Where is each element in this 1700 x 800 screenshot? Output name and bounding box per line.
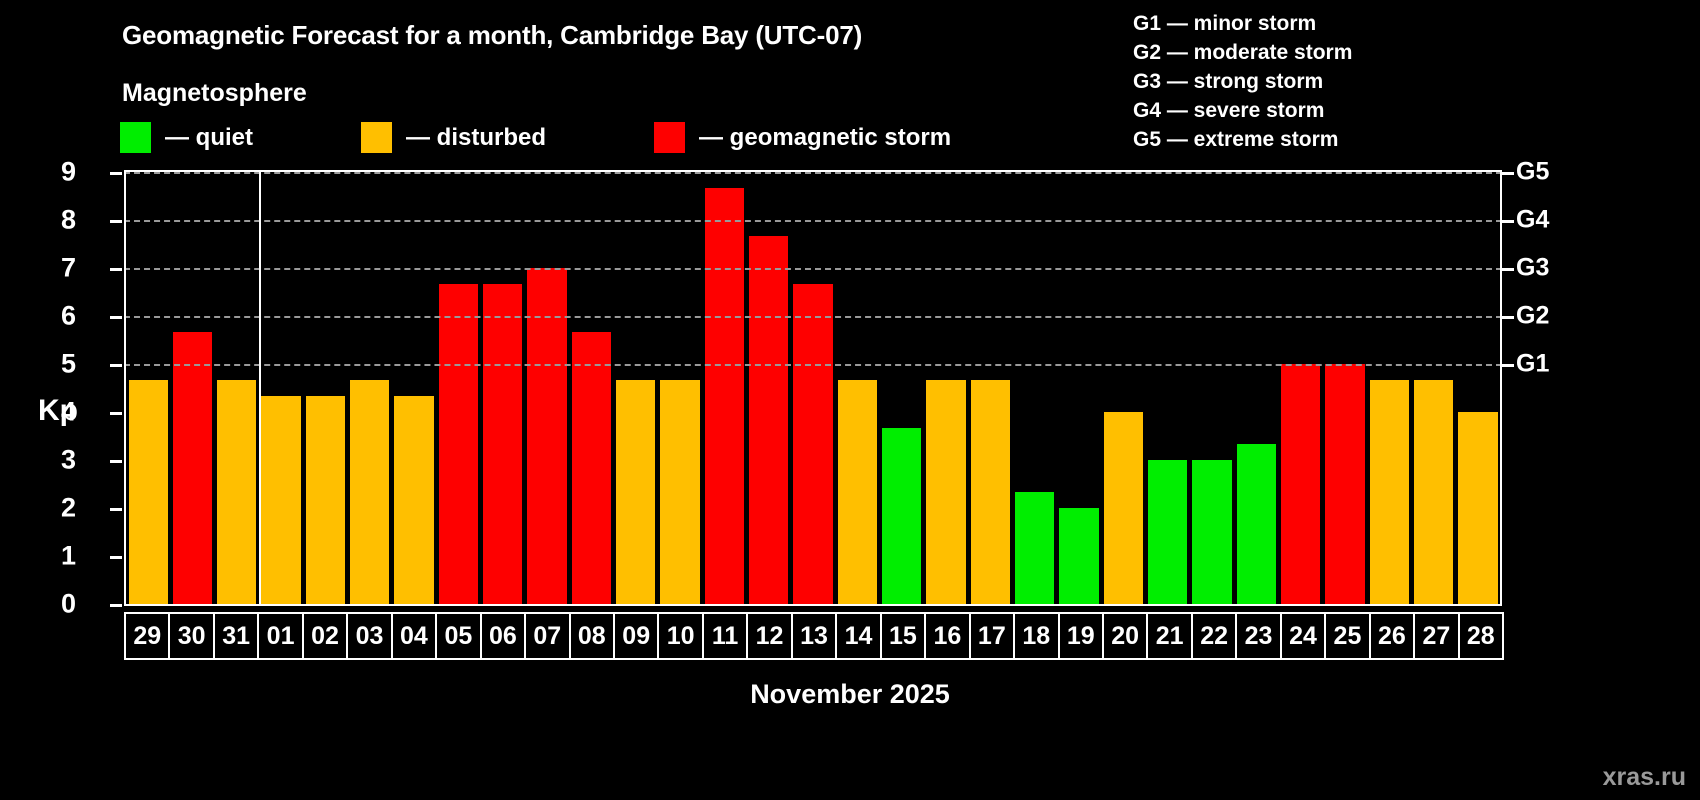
gscale-legend-row: G2 — moderate storm — [1133, 38, 1352, 67]
y-tick-mark — [110, 412, 122, 415]
green-swatch — [120, 122, 151, 153]
y-tick-mark — [110, 508, 122, 511]
y-tick-label: 1 — [36, 541, 76, 572]
gscale-legend-row: G4 — severe storm — [1133, 96, 1352, 125]
date-label[interactable]: 28 — [1458, 612, 1504, 660]
legend-entry: — geomagnetic storm — [654, 122, 951, 153]
date-label[interactable]: 05 — [435, 612, 481, 660]
date-label[interactable]: 29 — [124, 612, 170, 660]
date-label[interactable]: 17 — [969, 612, 1015, 660]
date-label[interactable]: 13 — [791, 612, 837, 660]
watermark: xras.ru — [1603, 763, 1686, 792]
date-label[interactable]: 01 — [257, 612, 303, 660]
month-separator — [259, 170, 261, 606]
y-tick-mark — [110, 364, 122, 367]
date-label[interactable]: 19 — [1058, 612, 1104, 660]
y-tick-mark — [110, 316, 122, 319]
date-label[interactable]: 16 — [924, 612, 970, 660]
date-label[interactable]: 14 — [835, 612, 881, 660]
gscale-legend-row: G3 — strong storm — [1133, 67, 1352, 96]
x-axis-date-labels: 2930310102030405060708091011121314151617… — [124, 612, 1502, 660]
y-tick-label: 3 — [36, 445, 76, 476]
red-swatch — [654, 122, 685, 153]
date-label[interactable]: 27 — [1413, 612, 1459, 660]
date-label[interactable]: 10 — [657, 612, 703, 660]
date-label[interactable]: 21 — [1146, 612, 1192, 660]
y-tick-label: 8 — [36, 205, 76, 236]
y-tick-mark — [110, 220, 122, 223]
y-tick-label: 9 — [36, 157, 76, 188]
date-label[interactable]: 22 — [1191, 612, 1237, 660]
y-tick-mark — [110, 556, 122, 559]
y-tick-mark — [110, 172, 122, 175]
date-label[interactable]: 06 — [480, 612, 526, 660]
date-label[interactable]: 08 — [569, 612, 615, 660]
orange-swatch — [361, 122, 392, 153]
magnetosphere-label: Magnetosphere — [122, 79, 307, 108]
g-tick-mark — [1502, 172, 1514, 175]
x-axis-label: November 2025 — [0, 679, 1700, 710]
date-label[interactable]: 07 — [524, 612, 570, 660]
g-tick-label: G2 — [1516, 302, 1549, 331]
date-label[interactable]: 12 — [746, 612, 792, 660]
y-tick-label: 5 — [36, 349, 76, 380]
gscale-legend-row: G5 — extreme storm — [1133, 125, 1352, 154]
date-label[interactable]: 20 — [1102, 612, 1148, 660]
date-label[interactable]: 11 — [702, 612, 748, 660]
date-label[interactable]: 30 — [168, 612, 214, 660]
date-label[interactable]: 15 — [880, 612, 926, 660]
gscale-legend-row: G1 — minor storm — [1133, 9, 1352, 38]
page-title: Geomagnetic Forecast for a month, Cambri… — [122, 20, 862, 51]
g-tick-mark — [1502, 220, 1514, 223]
date-label[interactable]: 23 — [1235, 612, 1281, 660]
date-label[interactable]: 04 — [391, 612, 437, 660]
y-tick-mark — [110, 604, 122, 607]
date-label[interactable]: 09 — [613, 612, 659, 660]
y-tick-label: 2 — [36, 493, 76, 524]
g-tick-label: G3 — [1516, 254, 1549, 283]
date-label[interactable]: 02 — [302, 612, 348, 660]
gscale-legend: G1 — minor stormG2 — moderate stormG3 — … — [1133, 9, 1352, 154]
g-tick-mark — [1502, 268, 1514, 271]
y-tick-label: 0 — [36, 589, 76, 620]
plot-frame — [124, 170, 1502, 606]
y-tick-label: 6 — [36, 301, 76, 332]
date-label[interactable]: 03 — [346, 612, 392, 660]
legend-label: — geomagnetic storm — [699, 124, 951, 152]
g-tick-mark — [1502, 364, 1514, 367]
date-label[interactable]: 25 — [1324, 612, 1370, 660]
g-tick-label: G4 — [1516, 206, 1549, 235]
date-label[interactable]: 31 — [213, 612, 259, 660]
y-tick-label: 7 — [36, 253, 76, 284]
g-tick-mark — [1502, 316, 1514, 319]
date-label[interactable]: 26 — [1369, 612, 1415, 660]
legend-label: — disturbed — [406, 124, 546, 152]
date-label[interactable]: 18 — [1013, 612, 1059, 660]
plot-area — [124, 170, 1502, 606]
y-tick-mark — [110, 460, 122, 463]
g-tick-label: G1 — [1516, 350, 1549, 379]
legend-label: — quiet — [165, 124, 253, 152]
g-tick-label: G5 — [1516, 158, 1549, 187]
y-tick-label: 4 — [36, 397, 76, 428]
y-tick-mark — [110, 268, 122, 271]
legend-entry: — quiet — [120, 122, 253, 153]
color-legend: — quiet— disturbed— geomagnetic storm — [120, 122, 951, 153]
legend-entry: — disturbed — [361, 122, 546, 153]
date-label[interactable]: 24 — [1280, 612, 1326, 660]
